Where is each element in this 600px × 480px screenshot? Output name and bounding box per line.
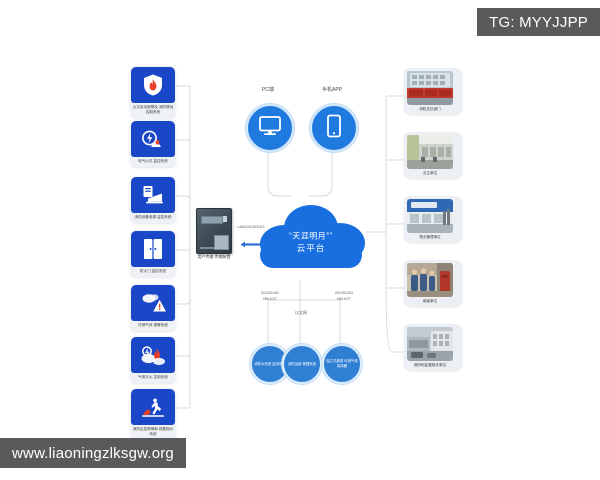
fire-door-icon [131,231,175,267]
property-center-photo [407,199,453,233]
device-tile-label: 火灾自动报警及 消防联动控制系统 [130,103,176,116]
transmission-gateway[interactable] [196,208,232,254]
gas-alarm-icon [131,285,175,321]
device-tile-label: 消防设备电源 监控系统 [130,213,176,221]
network-label-left: 2G/3G/4G NB-IOT [248,290,292,301]
maintenance-crew-photo [407,263,453,297]
bottom-node-label: 消防运维 管理系统 [286,362,318,367]
government-building-photo [407,327,453,361]
gateway-cabinet-icon [196,208,232,254]
device-tile-fire-door[interactable]: 防火门 监控系统 [130,230,176,277]
power-monitor-icon [131,177,175,213]
gas-extinguish-icon [131,337,175,373]
mobile-client-node[interactable] [310,104,358,152]
stakeholder-label: 政府和监管相关单位 [407,361,453,369]
mobile-client-caption: 手机APP [302,86,362,93]
stakeholder-label: 维保单位 [407,297,453,305]
bottom-node-detector[interactable]: 独立式烟感 可燃气体 探测器 [322,344,362,384]
stakeholder-label: 物业管理单位 [407,233,453,241]
office-corridor-photo [407,135,453,169]
stakeholder-card-owner-unit[interactable]: 业主单位 [404,132,462,178]
stakeholder-card-government[interactable]: 政府和监管相关单位 [404,324,462,370]
device-tile-label: 可燃气体 报警系统 [130,321,176,329]
device-tile-gas-extinguish[interactable]: 气体灭火 控制系统 [130,336,176,383]
device-tile-label: 气体灭火 控制系统 [130,373,176,381]
device-tile-emergency-lighting[interactable]: 消防应急照明和 疏散指示系统 [130,388,176,440]
stakeholder-label: 业主单位 [407,169,453,177]
network-label-right: 2G/3G/4G NB-IOT [322,290,366,301]
fire-shield-icon [131,67,175,103]
bottom-node-label: 独立式烟感 可燃气体 探测器 [326,359,358,368]
diagram-canvas: PC端 手机APP 用户传输 传输装置 LAN/2G/3G/4G [0,0,600,480]
pc-client-node[interactable] [246,104,294,152]
bottom-node-maintenance[interactable]: 消防运维 管理系统 [282,344,322,384]
device-tile-electric-fire[interactable]: 电气火灾 监控系统 [130,120,176,167]
emergency-exit-icon [131,389,175,425]
smartphone-icon [326,114,342,143]
stakeholder-card-property-management[interactable]: 物业管理单位 [404,196,462,242]
pc-client-caption: PC端 [238,86,298,93]
device-tile-label: 电气火灾 监控系统 [130,157,176,165]
cloud-platform-node[interactable] [252,198,370,282]
device-tile-label: 防火门 监控系统 [130,267,176,275]
monitor-icon [258,115,282,142]
stakeholder-card-fire-department[interactable]: 消防支队部门 [404,68,462,114]
device-tile-label: 消防应急照明和 疏散指示系统 [130,425,176,438]
device-tile-power-monitor[interactable]: 消防设备电源 监控系统 [130,176,176,223]
electric-fire-icon [131,121,175,157]
gateway-label: 用户传输 传输装置 [190,254,238,260]
device-tile-gas-alarm[interactable]: 可燃气体 报警系统 [130,284,176,331]
watermark-top-right: TG: MYYJJPP [477,8,600,36]
stakeholder-label: 消防支队部门 [407,105,453,113]
stakeholder-card-maintenance-unit[interactable]: 维保单位 [404,260,462,306]
device-tile-fire-alarm[interactable]: 火灾自动报警及 消防联动控制系统 [130,66,176,118]
network-label-middle: 以太网 [284,310,318,316]
fire-station-photo [407,71,453,105]
watermark-bottom-left: www.liaoningzlksgw.org [0,438,186,468]
